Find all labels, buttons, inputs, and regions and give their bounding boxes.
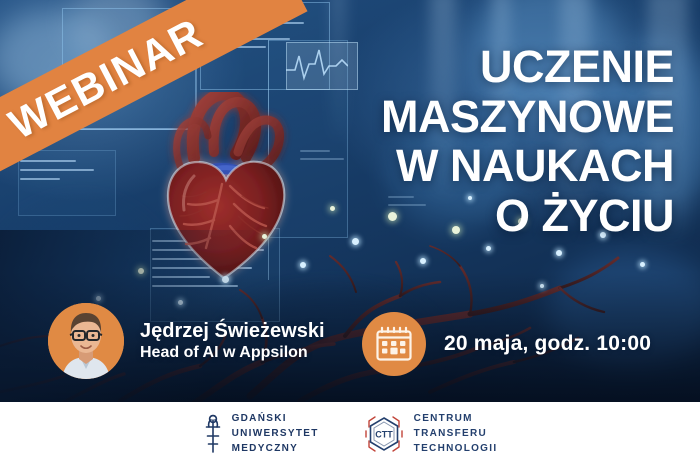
avatar [48, 303, 124, 379]
logo-centrum-transferu-technologii: CTT CENTRUM TRANSFERU TECHNOLOGII [363, 412, 498, 456]
glow-particle [486, 246, 491, 251]
gumed-logo-line-2: UNIWERSYTET [232, 427, 319, 442]
event-datetime-block: 20 maja, godz. 10:00 [362, 312, 651, 376]
footer-logos-bar: GDAŃSKI UNIWERSYTET MEDYCZNY [0, 402, 700, 467]
glow-particle [556, 250, 562, 256]
hud-text-row [20, 169, 94, 171]
gumed-logo-text: GDAŃSKI UNIWERSYTET MEDYCZNY [232, 412, 319, 456]
speaker-role: Head of AI w Appsilon [140, 343, 325, 364]
speaker-block: Jędrzej Świeżewski Head of AI w Appsilon [48, 303, 325, 379]
page-title: UCZENIE MASZYNOWE W NAUKACH O ŻYCIU [284, 42, 674, 240]
ctt-logo-line-2: TRANSFERU [414, 427, 498, 442]
glow-particle [420, 258, 426, 264]
logo-gdanski-uniwersytet-medyczny: GDAŃSKI UNIWERSYTET MEDYCZNY [203, 412, 319, 456]
hud-text-row [20, 178, 60, 180]
calendar-icon-badge [362, 312, 426, 376]
calendar-icon [375, 326, 413, 362]
ctt-logo-line-1: CENTRUM [414, 412, 498, 427]
title-line-2: MASZYNOWE [284, 92, 674, 142]
glow-particle [640, 262, 645, 267]
ctt-hexagon-icon: CTT [363, 413, 405, 455]
speaker-text: Jędrzej Świeżewski Head of AI w Appsilon [140, 318, 325, 364]
title-line-1: UCZENIE [284, 42, 674, 92]
glow-particle [300, 262, 306, 268]
ctt-mark-label: CTT [375, 430, 393, 440]
ctt-logo-text: CENTRUM TRANSFERU TECHNOLOGII [414, 412, 498, 456]
title-line-3: W NAUKACH [284, 141, 674, 191]
gumed-logo-line-1: GDAŃSKI [232, 412, 319, 427]
gumed-asclepius-staff-icon [203, 414, 223, 454]
ctt-logo-line-3: TECHNOLOGII [414, 442, 498, 457]
speaker-portrait-icon [48, 303, 124, 379]
hud-text-row [20, 160, 76, 162]
event-date-time: 20 maja, godz. 10:00 [444, 332, 651, 356]
title-line-4: O ŻYCIU [284, 191, 674, 241]
speaker-name: Jędrzej Świeżewski [140, 320, 325, 343]
webinar-poster: WEBINAR UCZENIE MASZYNOWE W NAUKACH O ŻY… [0, 0, 700, 467]
gumed-logo-line-3: MEDYCZNY [232, 442, 319, 457]
